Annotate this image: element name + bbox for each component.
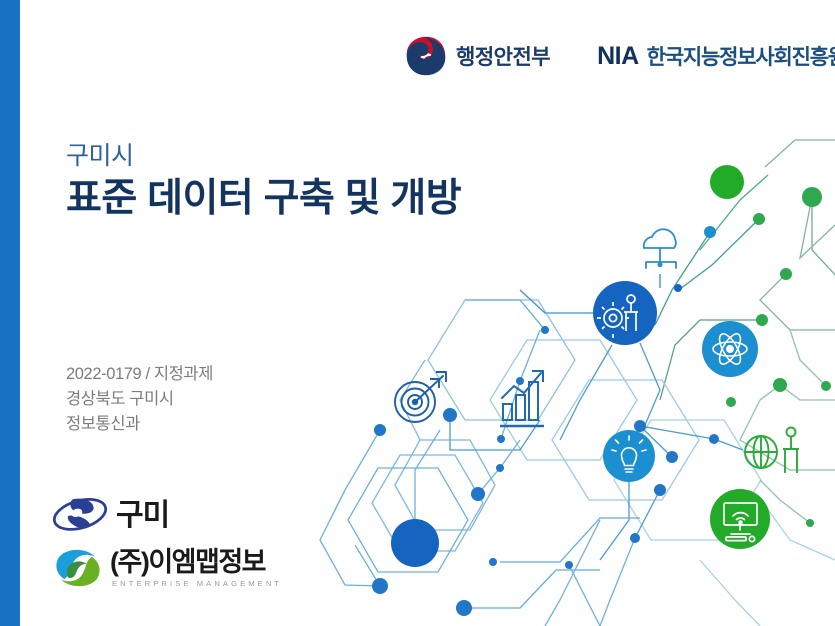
gear-person-icon: [593, 281, 657, 345]
node-blue-small-m: [634, 420, 646, 432]
node-blue-small-l: [516, 377, 524, 385]
meta-line-department: 정보통신과: [66, 412, 213, 437]
node-green-large: [710, 165, 744, 199]
node-blue-large: [391, 519, 439, 567]
node-blue-small-a: [704, 226, 716, 238]
cover-slide: 행정안전부 NIA 한국지능정보사회진흥원 구미시 표준 데이터 구축 및 개방…: [0, 0, 835, 626]
atom-icon: [702, 321, 758, 377]
meta-line-region: 경상북도 구미시: [66, 387, 213, 412]
node-blue-small-h: [654, 484, 666, 496]
node-green-small-g: [806, 519, 814, 527]
node-blue-small-n: [565, 561, 573, 569]
globe-person-icon: [745, 428, 799, 474]
meta-line-project: 2022-0179 / 지정과제: [66, 362, 213, 387]
node-green-small-e: [726, 397, 736, 407]
node-green-small-b: [780, 268, 792, 280]
node-green-small-c: [756, 314, 768, 326]
footer-logos: 구미 (주)이엠맵정보 ENTERPRISE MANAGEMENT: [52, 487, 282, 594]
cloud-network-icon: [644, 229, 676, 268]
meta-block: 2022-0179 / 지정과제 경상북도 구미시 정보통신과: [66, 362, 213, 437]
node-blue-small-j: [666, 451, 678, 463]
emmap-label: (주)이엠맵정보: [110, 548, 282, 576]
node-blue-small-d: [471, 487, 485, 501]
page-title: 표준 데이터 구축 및 개방: [66, 177, 461, 221]
node-blue-small-g: [497, 435, 505, 443]
network-nodes-illustration: [315, 0, 835, 626]
monitor-wifi-icon: [710, 489, 770, 549]
emmap-swirl-icon: [52, 545, 104, 591]
node-blue-small-e: [372, 578, 388, 594]
network-node-group: [372, 165, 831, 616]
title-eyebrow: 구미시: [66, 143, 461, 171]
emmap-logo: (주)이엠맵정보 ENTERPRISE MANAGEMENT: [52, 542, 282, 594]
node-green-small-a: [753, 213, 765, 225]
node-green-medium: [802, 187, 822, 207]
left-accent-bar: [0, 0, 20, 626]
node-blue-small-p: [709, 434, 719, 444]
emmap-sublabel: ENTERPRISE MANAGEMENT: [112, 579, 282, 588]
node-blue-small-f: [456, 600, 472, 616]
title-block: 구미시 표준 데이터 구축 및 개방: [66, 143, 461, 220]
node-blue-small-o: [489, 558, 497, 566]
target-arrow-icon: [395, 372, 446, 422]
node-green-small-f: [821, 381, 831, 391]
gumi-city-label: 구미: [116, 490, 169, 534]
node-blue-tiny-a: [674, 284, 682, 292]
lightbulb-icon: [603, 430, 655, 482]
node-blue-small-b: [443, 408, 457, 422]
node-blue-small-q: [541, 326, 549, 334]
node-green-small-d: [773, 378, 787, 392]
node-blue-small-c: [374, 424, 386, 436]
node-blue-small-k: [496, 464, 504, 472]
node-blue-small-i: [630, 533, 640, 543]
gumi-city-logo: 구미: [52, 487, 282, 537]
gumi-city-emblem-icon: [52, 492, 108, 532]
